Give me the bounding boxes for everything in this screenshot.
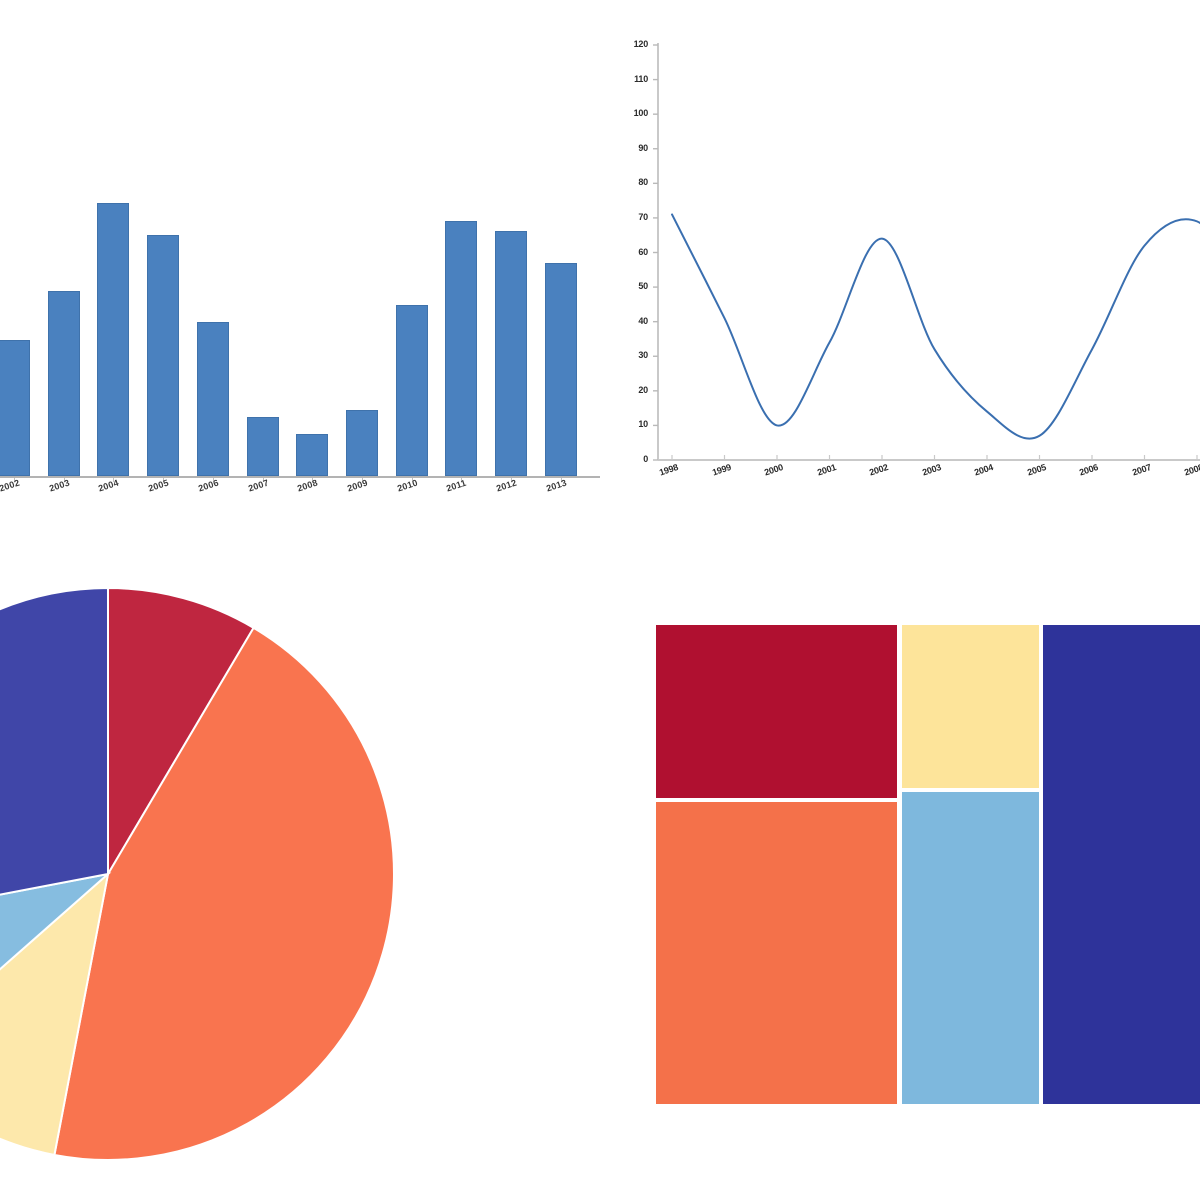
bar-2012[interactable]: [495, 231, 527, 476]
pie-slice-indigo[interactable]: Indigo: 28%: [0, 588, 108, 928]
pie-chart-panel: Crimson: 8.5%Orange: 44.5%Light yellow: …: [0, 510, 610, 1200]
line-ylabel-110: 110: [618, 74, 648, 84]
line-ylabel-50: 50: [618, 281, 648, 291]
bar-2002[interactable]: [0, 340, 30, 477]
line-ylabel-10: 10: [618, 419, 648, 429]
bar-xlabel-2007: 2007: [247, 478, 270, 494]
bar-xlabel-2002: 2002: [0, 478, 21, 494]
bar-2009[interactable]: [346, 410, 378, 477]
bar-2006[interactable]: [197, 322, 229, 476]
treemap-tile-light-yellow[interactable]: [902, 625, 1039, 788]
bar-chart-plot-area: 2002200320042005200620072008200920102011…: [0, 0, 610, 510]
line-ylabel-0: 0: [618, 454, 648, 464]
bar-2005[interactable]: [147, 235, 179, 477]
bar-2008[interactable]: [296, 434, 328, 476]
treemap-tile-indigo[interactable]: [1043, 625, 1200, 1104]
line-chart-panel: 1201101009080706050403020100199819992000…: [610, 0, 1200, 510]
bar-xlabel-2008: 2008: [296, 478, 319, 494]
line-ylabel-120: 120: [618, 39, 648, 49]
line-ylabel-90: 90: [618, 143, 648, 153]
bar-xlabel-2011: 2011: [445, 478, 467, 494]
bar-xlabel-2003: 2003: [48, 478, 71, 494]
bar-2004[interactable]: [97, 203, 129, 476]
line-ylabel-100: 100: [618, 108, 648, 118]
treemap-panel: [610, 510, 1200, 1200]
bar-xlabel-2013: 2013: [545, 478, 568, 494]
treemap-tile-orange[interactable]: [656, 802, 897, 1104]
bar-chart-panel: 2002200320042005200620072008200920102011…: [0, 0, 610, 510]
line-ylabel-30: 30: [618, 350, 648, 360]
treemap-tile-crimson[interactable]: [656, 625, 897, 798]
bar-2011[interactable]: [445, 221, 477, 477]
bar-xlabel-2009: 2009: [346, 478, 369, 494]
bar-xlabel-2005: 2005: [147, 478, 170, 494]
pie-chart-svg: Crimson: 8.5%Orange: 44.5%Light yellow: …: [0, 510, 610, 1200]
line-ylabel-80: 80: [618, 177, 648, 187]
bar-xlabel-2004: 2004: [97, 478, 120, 494]
bar-xlabel-2010: 2010: [396, 478, 419, 494]
bar-2013[interactable]: [545, 263, 577, 477]
bar-2003[interactable]: [48, 291, 80, 477]
line-ylabel-70: 70: [618, 212, 648, 222]
line-ylabel-40: 40: [618, 316, 648, 326]
line-series-path[interactable]: [672, 214, 1200, 438]
line-ylabel-20: 20: [618, 385, 648, 395]
bar-2007[interactable]: [247, 417, 279, 477]
bar-xlabel-2012: 2012: [495, 478, 518, 494]
line-chart-svg: [610, 0, 1200, 510]
treemap-tile-light-blue[interactable]: [902, 792, 1039, 1104]
bar-2010[interactable]: [396, 305, 428, 477]
line-ylabel-60: 60: [618, 247, 648, 257]
bar-chart-axis-line: [0, 476, 600, 478]
bar-xlabel-2006: 2006: [197, 478, 220, 494]
